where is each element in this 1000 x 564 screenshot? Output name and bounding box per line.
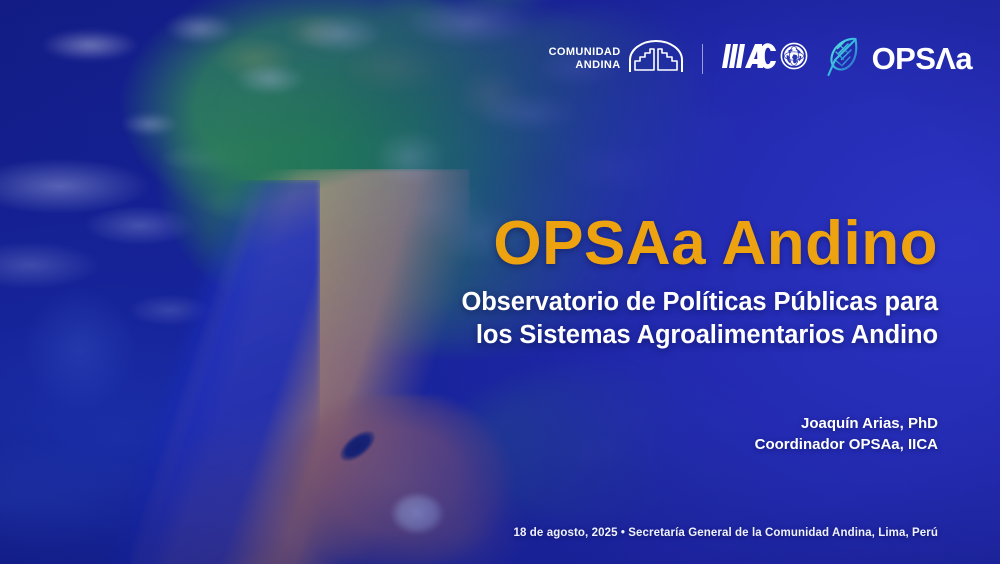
author-name: Joaquín Arias, PhD: [755, 413, 938, 434]
page-title: OPSAa Andino: [318, 212, 938, 275]
iica-wordmark: [721, 40, 777, 77]
logo-iica[interactable]: [721, 40, 808, 77]
author-role: Coordinador OPSAa, IICA: [755, 434, 938, 455]
opsaa-wordmark: OPSΛa: [872, 43, 972, 74]
author-block: Joaquín Arias, PhD Coordinador OPSAa, II…: [755, 413, 938, 456]
subtitle-line-1: Observatorio de Políticas Públicas para: [318, 286, 938, 319]
logo-divider-1: [702, 44, 703, 74]
subtitle-line-2: los Sistemas Agroalimentarios Andino: [318, 319, 938, 352]
presentation-slide: COMUNIDAD ANDINA: [0, 0, 1000, 564]
logo-comunidad-andina[interactable]: COMUNIDAD ANDINA: [549, 39, 684, 78]
footer-event-info: 18 de agosto, 2025 • Secretaría General …: [514, 527, 939, 539]
andean-arch-icon: [628, 39, 684, 78]
page-subtitle: Observatorio de Políticas Públicas para …: [318, 286, 938, 352]
logo-opsaa[interactable]: OPSΛa: [826, 34, 972, 83]
globe-icon: [780, 42, 808, 75]
comunidad-andina-wordmark: COMUNIDAD ANDINA: [549, 46, 621, 71]
title-block: OPSAa Andino Observatorio de Políticas P…: [318, 212, 938, 353]
leaf-icon: [826, 34, 864, 83]
logo-bar: COMUNIDAD ANDINA: [549, 34, 972, 83]
slide-content: COMUNIDAD ANDINA: [0, 0, 1000, 564]
